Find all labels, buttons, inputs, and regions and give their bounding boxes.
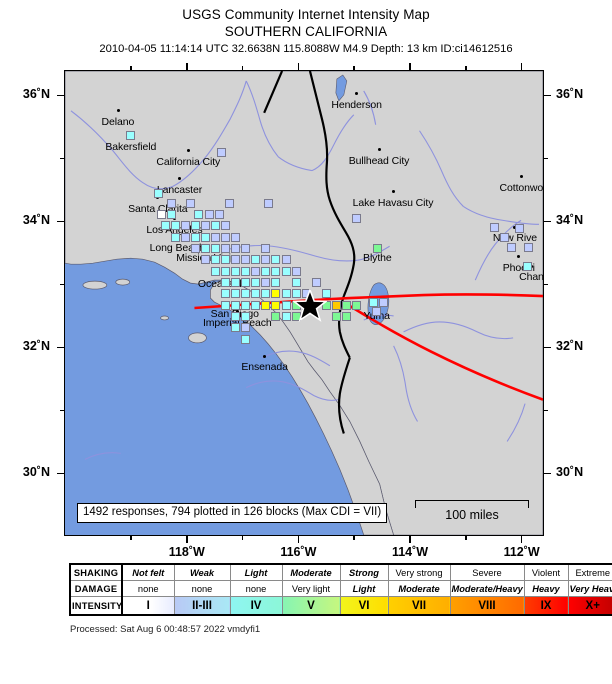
intensity-block: [221, 289, 230, 298]
intensity-block: [264, 199, 273, 208]
intensity-block: [251, 289, 260, 298]
lat-label-right: 34˚N: [556, 213, 604, 227]
intensity-block: [241, 289, 250, 298]
lat-label-left: 34˚N: [2, 213, 50, 227]
intensity-block: [205, 210, 214, 219]
city-label: Lake Havasu City: [353, 197, 434, 209]
legend-damage-cell: none: [174, 581, 230, 597]
legend-damage-cell: Very Heavy: [568, 581, 612, 597]
legend-shaking-cell: Moderate: [282, 564, 340, 581]
intensity-block: [251, 255, 260, 264]
city-dot: [378, 148, 381, 151]
intensity-block: [271, 267, 280, 276]
legend-shaking-cell: Weak: [174, 564, 230, 581]
intensity-block: [186, 199, 195, 208]
intensity-block: [194, 210, 203, 219]
scale-bar: 100 miles: [415, 500, 529, 523]
intensity-block: [231, 233, 240, 242]
intensity-block: [282, 267, 291, 276]
intensity-block: [231, 244, 240, 253]
lat-tick-left: [57, 473, 64, 475]
legend-intensity-cell: VI: [340, 597, 388, 616]
lat-label-left: 32˚N: [2, 339, 50, 353]
intensity-block: [342, 312, 351, 321]
intensity-block: [171, 233, 180, 242]
region-subtitle: SOUTHERN CALIFORNIA: [0, 23, 612, 40]
city-label: Bakersfield: [105, 141, 156, 153]
intensity-block: [211, 233, 220, 242]
intensity-block: [261, 278, 270, 287]
intensity-block: [221, 301, 230, 310]
intensity-block: [231, 312, 240, 321]
legend-shaking-cell: Very strong: [388, 564, 450, 581]
intensity-block: [181, 233, 190, 242]
intensity-legend-table: SHAKINGNot feltWeakLightModerateStrongVe…: [69, 563, 612, 616]
lat-label-right: 30˚N: [556, 465, 604, 479]
intensity-block: [241, 301, 250, 310]
intensity-block: [231, 255, 240, 264]
lon-tick-bottom: [409, 536, 411, 543]
intensity-block: [292, 267, 301, 276]
lon-label: 112˚W: [492, 545, 552, 559]
channel-island: [83, 281, 107, 289]
intensity-block: [251, 267, 260, 276]
legend-intensity-cell: I: [122, 597, 174, 616]
intensity-block: [261, 255, 270, 264]
legend-intensity-cell: V: [282, 597, 340, 616]
intensity-block: [372, 307, 381, 316]
intensity-block: [241, 267, 250, 276]
intensity-block: [221, 255, 230, 264]
lat-minor-tick: [544, 410, 548, 412]
lon-tick-top: [298, 63, 300, 70]
scale-bar-line: [415, 500, 529, 508]
intensity-block: [221, 267, 230, 276]
city-label: Bullhead City: [349, 155, 410, 167]
lon-minor-tick: [465, 536, 467, 540]
intensity-block: [201, 221, 210, 230]
legend-row-intensity: INTENSITYIII-IIIIVVVIVIIVIIIIXX+: [70, 597, 612, 616]
lat-minor-tick: [544, 158, 548, 160]
legend-intensity-cell: II-III: [174, 597, 230, 616]
intensity-block: [231, 323, 240, 332]
intensity-block: [161, 221, 170, 230]
lon-tick-bottom: [186, 536, 188, 543]
legend-row-shaking: SHAKINGNot feltWeakLightModerateStrongVe…: [70, 564, 612, 581]
intensity-block: [523, 262, 532, 271]
intensity-block: [167, 210, 176, 219]
intensity-block: [261, 301, 270, 310]
intensity-block: [271, 301, 280, 310]
legend-damage-cell: Very light: [282, 581, 340, 597]
intensity-block: [171, 221, 180, 230]
legend-damage-cell: Moderate: [388, 581, 450, 597]
intensity-block: [251, 301, 260, 310]
city-label: Cottonwo: [500, 182, 544, 194]
intensity-block: [524, 243, 533, 252]
city-label: Ensenada: [241, 361, 288, 373]
lat-minor-tick: [544, 284, 548, 286]
intensity-block: [261, 244, 270, 253]
city-label: Blythe: [363, 252, 392, 264]
legend-intensity-cell: X+: [568, 597, 612, 616]
legend-shaking-cell: Light: [230, 564, 282, 581]
city-label: Lancaster: [157, 184, 202, 196]
intensity-block: [225, 199, 234, 208]
intensity-block: [282, 312, 291, 321]
lon-minor-tick: [242, 536, 244, 540]
lon-label: 114˚W: [380, 545, 440, 559]
intensity-block: [271, 278, 280, 287]
intensity-map[interactable]: DelanoBakersfieldCalifornia CityLancaste…: [64, 70, 544, 536]
lat-label-right: 36˚N: [556, 87, 604, 101]
legend-damage-cell: none: [230, 581, 282, 597]
intensity-block: [332, 301, 341, 310]
legend-intensity-cell: VIII: [450, 597, 524, 616]
lat-tick-right: [544, 347, 551, 349]
intensity-block: [332, 312, 341, 321]
intensity-block: [241, 255, 250, 264]
intensity-block: [231, 301, 240, 310]
intensity-block: [211, 255, 220, 264]
intensity-block: [221, 244, 230, 253]
lat-tick-right: [544, 473, 551, 475]
intensity-block: [282, 301, 291, 310]
intensity-block: [241, 335, 250, 344]
channel-island: [161, 316, 169, 320]
lon-tick-bottom: [521, 536, 523, 543]
intensity-block: [500, 233, 509, 242]
lon-tick-top: [521, 63, 523, 70]
intensity-block: [167, 199, 176, 208]
intensity-block: [261, 289, 270, 298]
lat-label-left: 30˚N: [2, 465, 50, 479]
lat-tick-right: [544, 221, 551, 223]
page-title: USGS Community Internet Intensity Map: [0, 6, 612, 23]
city-label: Delano: [102, 116, 135, 128]
intensity-block: [282, 289, 291, 298]
intensity-block: [515, 224, 524, 233]
intensity-block: [369, 298, 378, 307]
intensity-block: [126, 131, 135, 140]
intensity-block: [191, 221, 200, 230]
city-label: Henderson: [331, 99, 381, 111]
intensity-block: [231, 289, 240, 298]
legend-intensity-cell: IV: [230, 597, 282, 616]
intensity-block: [211, 221, 220, 230]
intensity-block: [241, 312, 250, 321]
intensity-block: [231, 278, 240, 287]
intensity-block: [221, 221, 230, 230]
intensity-block: [292, 278, 301, 287]
intensity-block: [201, 244, 210, 253]
legend-row-label: INTENSITY: [70, 597, 122, 616]
intensity-block: [191, 233, 200, 242]
intensity-block: [217, 148, 226, 157]
lat-tick-left: [57, 221, 64, 223]
intensity-block: [241, 323, 250, 332]
channel-island: [188, 333, 206, 343]
legend-shaking-cell: Extreme: [568, 564, 612, 581]
lat-tick-left: [57, 347, 64, 349]
intensity-block: [342, 301, 351, 310]
epicenter-star: [293, 289, 327, 323]
intensity-block: [352, 301, 361, 310]
legend-damage-cell: Light: [340, 581, 388, 597]
intensity-block: [282, 255, 291, 264]
city-dot: [355, 92, 358, 95]
legend-damage-cell: none: [122, 581, 174, 597]
lon-tick-bottom: [298, 536, 300, 543]
lon-tick-top: [409, 63, 411, 70]
legend-row-damage: DAMAGEnonenonenoneVery lightLightModerat…: [70, 581, 612, 597]
processed-timestamp: Processed: Sat Aug 6 00:48:57 2022 vmdyf…: [70, 624, 260, 635]
intensity-block: [215, 210, 224, 219]
intensity-block: [379, 298, 388, 307]
response-count-box: 1492 responses, 794 plotted in 126 block…: [77, 503, 387, 523]
event-info-line: 2010-04-05 11:14:14 UTC 32.6638N 115.808…: [0, 41, 612, 57]
intensity-block: [201, 255, 210, 264]
legend-shaking-cell: Strong: [340, 564, 388, 581]
intensity-block: [154, 189, 163, 198]
intensity-block: [312, 278, 321, 287]
title-block: USGS Community Internet Intensity Map SO…: [0, 6, 612, 57]
intensity-block: [181, 221, 190, 230]
intensity-block: [251, 278, 260, 287]
city-dot: [117, 109, 120, 112]
intensity-block: [221, 233, 230, 242]
intensity-block: [490, 223, 499, 232]
lon-label: 118˚W: [157, 545, 217, 559]
legend-shaking-cell: Not felt: [122, 564, 174, 581]
intensity-block: [211, 244, 220, 253]
intensity-block: [261, 267, 270, 276]
city-label: Chan: [519, 271, 544, 283]
scale-bar-label: 100 miles: [415, 508, 529, 523]
city-label: California City: [156, 156, 220, 168]
intensity-block: [191, 244, 200, 253]
intensity-block: [157, 210, 166, 219]
lon-tick-top: [186, 63, 188, 70]
intensity-block: [271, 312, 280, 321]
legend-intensity-cell: VII: [388, 597, 450, 616]
lat-tick-left: [57, 95, 64, 97]
legend-intensity-cell: IX: [524, 597, 568, 616]
lon-minor-tick: [353, 536, 355, 540]
intensity-block: [231, 267, 240, 276]
intensity-block: [507, 243, 516, 252]
intensity-block: [352, 214, 361, 223]
legend-shaking-cell: Severe: [450, 564, 524, 581]
intensity-block: [221, 278, 230, 287]
intensity-block: [271, 289, 280, 298]
lat-label-right: 32˚N: [556, 339, 604, 353]
legend-row-label: DAMAGE: [70, 581, 122, 597]
legend-shaking-cell: Violent: [524, 564, 568, 581]
legend-damage-cell: Moderate/Heavy: [450, 581, 524, 597]
intensity-block: [241, 244, 250, 253]
lat-label-left: 36˚N: [2, 87, 50, 101]
channel-island: [116, 279, 130, 285]
intensity-block: [201, 233, 210, 242]
legend-row-label: SHAKING: [70, 564, 122, 581]
lon-label: 116˚W: [268, 545, 328, 559]
intensity-block: [271, 255, 280, 264]
intensity-block: [241, 278, 250, 287]
intensity-block: [211, 267, 220, 276]
legend-damage-cell: Heavy: [524, 581, 568, 597]
lon-minor-tick: [130, 536, 132, 540]
intensity-block: [373, 244, 382, 253]
lat-tick-right: [544, 95, 551, 97]
